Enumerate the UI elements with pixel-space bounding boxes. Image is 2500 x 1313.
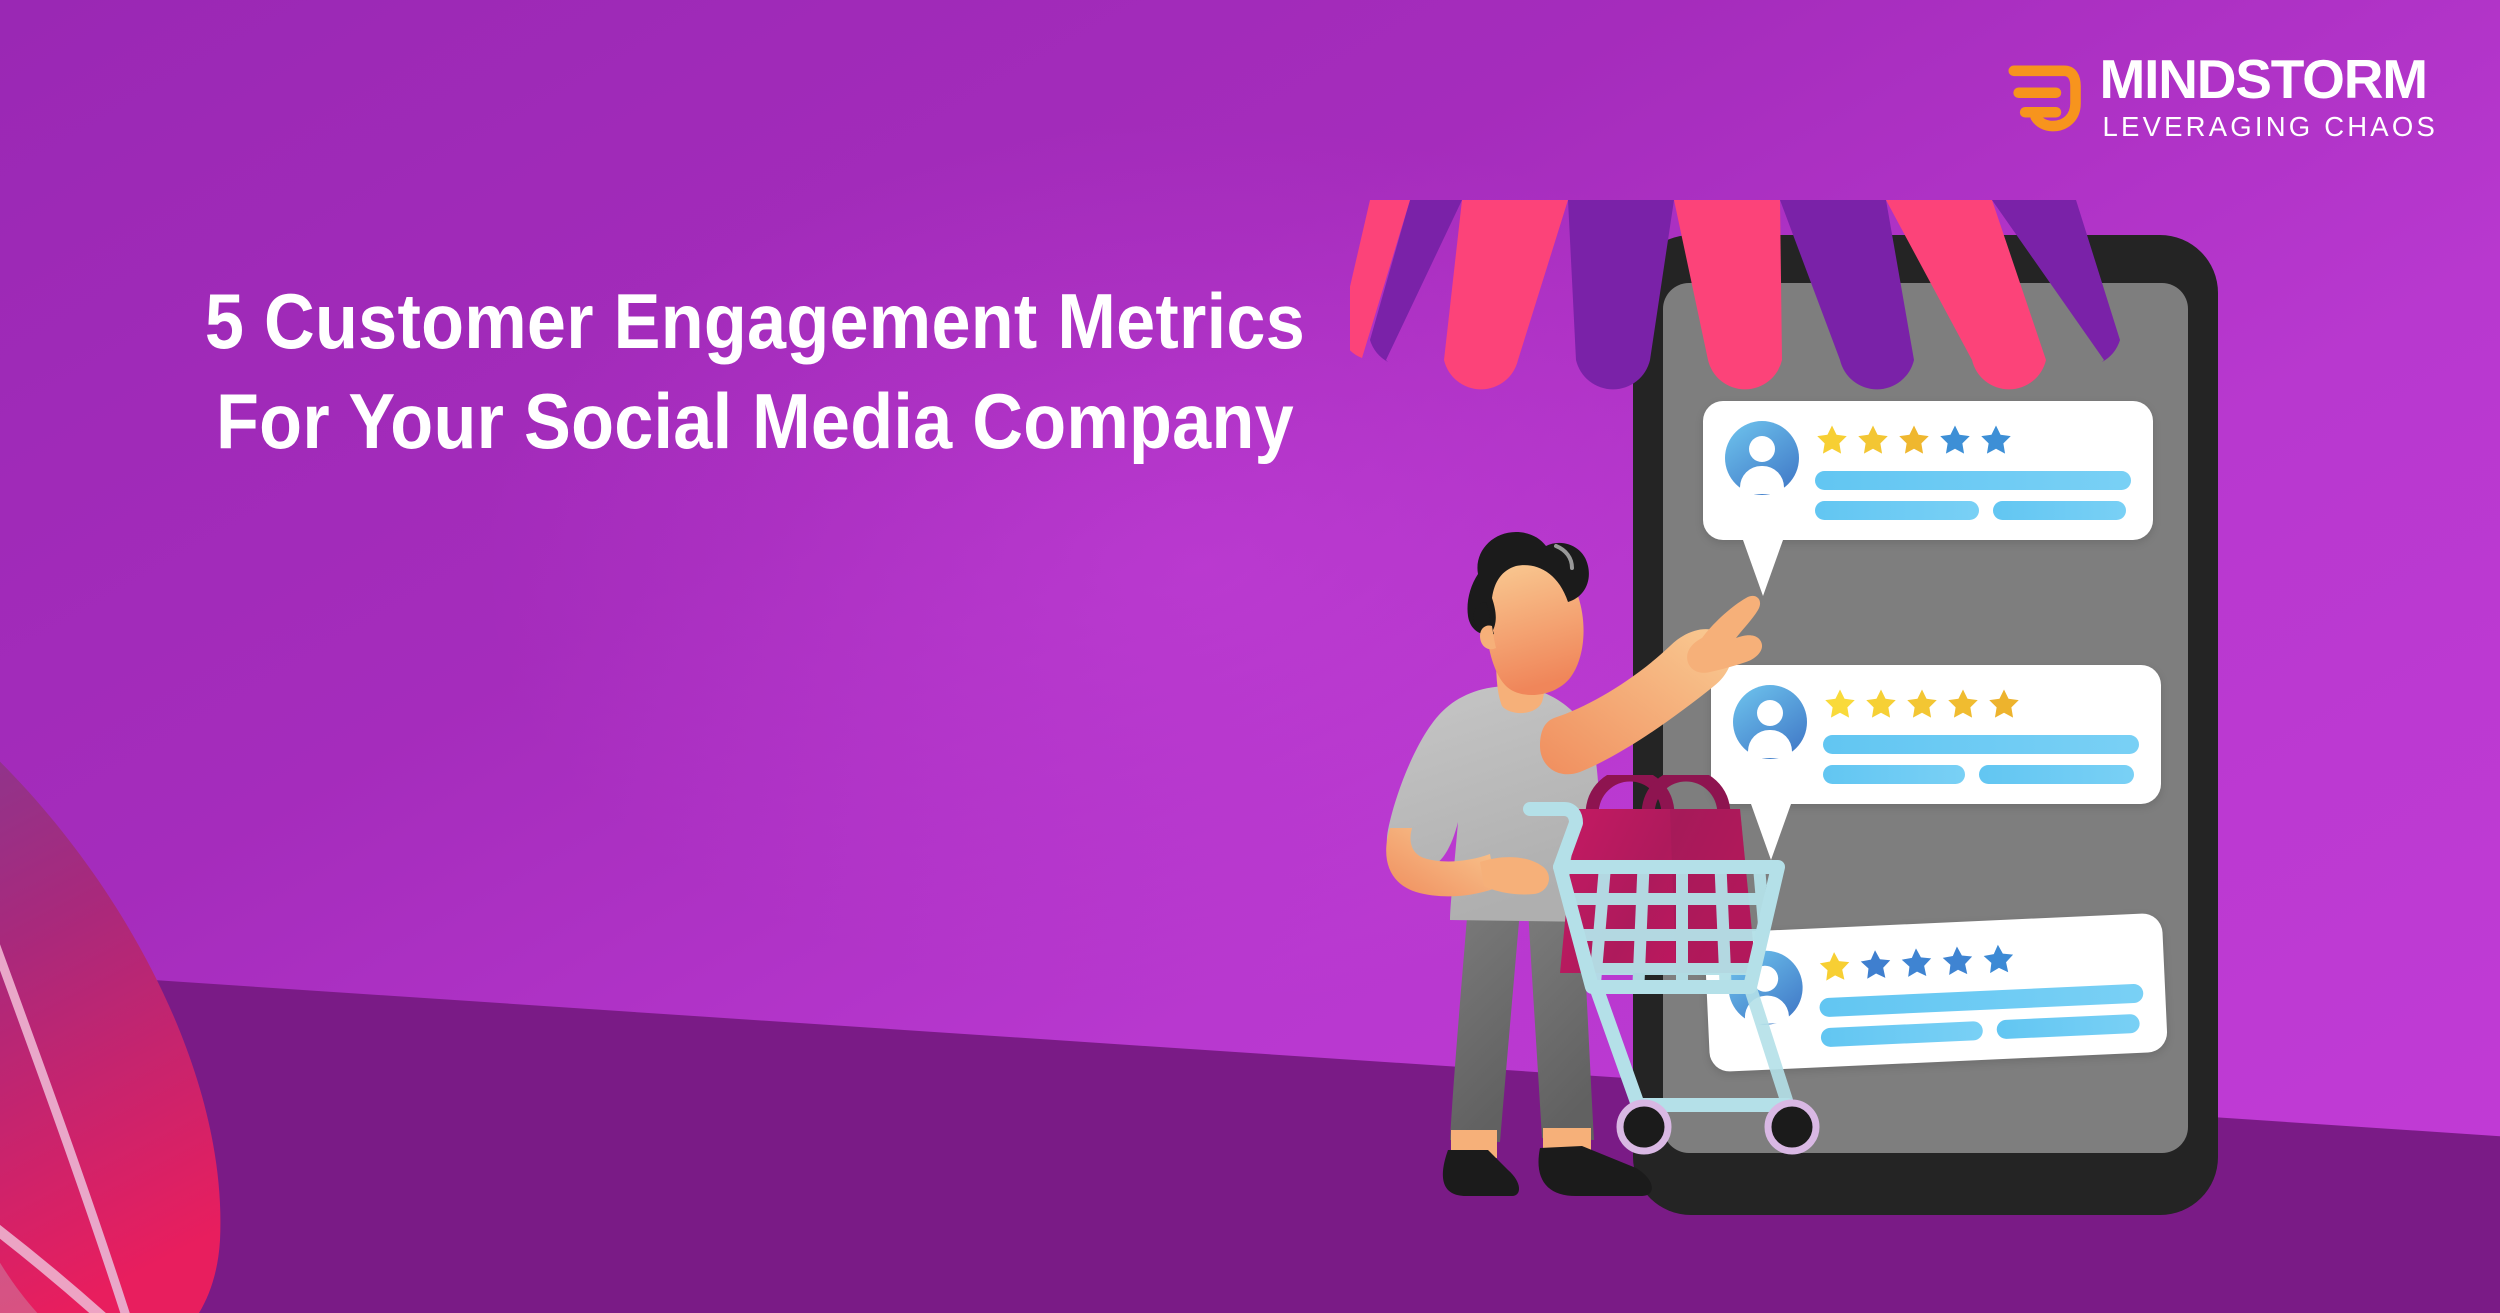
- text-line: [1996, 1014, 2139, 1039]
- text-line: [1979, 765, 2134, 784]
- review-text-lines: [1815, 471, 2131, 520]
- star-icon-filled: [1946, 687, 1980, 721]
- star-icon-filled: [1905, 687, 1939, 721]
- text-line: [1815, 471, 2131, 490]
- awning-svg: [1350, 200, 2120, 415]
- storefront-illustration: [1350, 190, 2460, 1190]
- brand-tagline: LEVERAGING CHAOS: [2100, 113, 2438, 141]
- awning-stripe-pink: [1674, 200, 1782, 389]
- cart-wheel-left: [1620, 1103, 1668, 1151]
- cart-wheel-right: [1768, 1103, 1816, 1151]
- cart-svg: [1520, 775, 1940, 1195]
- star-rating: [1823, 687, 2139, 721]
- star-icon-empty: [1981, 941, 2017, 977]
- brand-logo[interactable]: MINDSTORM LEVERAGING CHAOS: [2002, 52, 2438, 141]
- awning-stripe-purple: [1568, 200, 1674, 389]
- star-icon-empty: [1940, 943, 1976, 979]
- page-title: 5 Customer Engagement Metrics For Your S…: [193, 272, 1318, 472]
- awning-stripe-purple: [1780, 200, 1914, 389]
- star-icon-filled: [1897, 423, 1931, 457]
- review-body: [1823, 685, 2139, 784]
- star-icon-empty: [1979, 423, 2013, 457]
- star-icon-filled: [1987, 687, 2021, 721]
- awning-stripe-pink: [1444, 200, 1568, 389]
- shop-awning: [1350, 200, 2120, 415]
- leaf-svg: [0, 600, 450, 1313]
- star-icon-empty: [1938, 423, 1972, 457]
- star-icon-filled: [1856, 423, 1890, 457]
- leaf-decoration: [0, 600, 450, 1313]
- leg-left: [1450, 905, 1520, 1142]
- logo-wordmark: MINDSTORM LEVERAGING CHAOS: [2100, 52, 2438, 141]
- star-icon-filled: [1823, 687, 1857, 721]
- text-line: [1993, 501, 2126, 520]
- mindstorm-wing-icon: [2002, 57, 2084, 135]
- cart-handle: [1530, 809, 1576, 867]
- shoe-left: [1443, 1150, 1519, 1196]
- leaf-front-shape: [0, 672, 220, 1313]
- user-avatar-icon: [1725, 421, 1799, 495]
- text-line: [1823, 735, 2139, 754]
- star-icon-filled: [1815, 423, 1849, 457]
- banner-canvas: MINDSTORM LEVERAGING CHAOS 5 Customer En…: [0, 0, 2500, 1313]
- brand-name: MINDSTORM: [2100, 52, 2438, 107]
- text-line: [1815, 501, 1979, 520]
- review-body: [1815, 421, 2131, 520]
- cart-frame-right: [1750, 987, 1788, 1105]
- shopping-cart: [1520, 775, 1940, 1195]
- star-rating: [1815, 423, 2131, 457]
- star-icon-filled: [1864, 687, 1898, 721]
